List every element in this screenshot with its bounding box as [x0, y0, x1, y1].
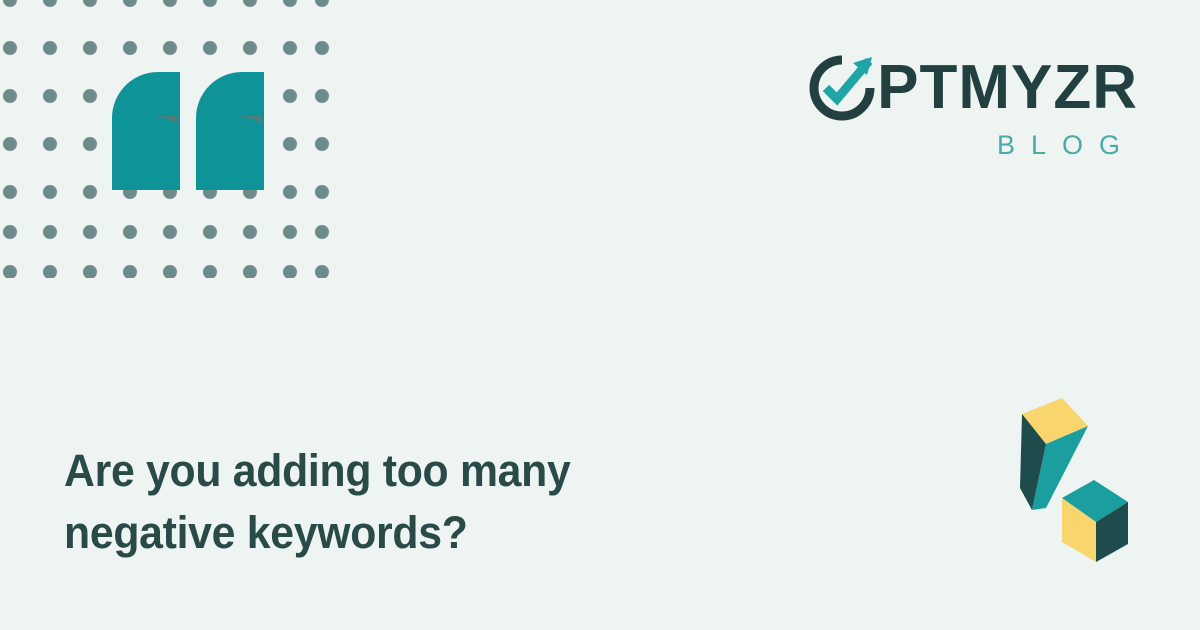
quotation-mark-icon [112, 72, 264, 190]
brand-wordmark: PTMYZR [877, 57, 1138, 119]
page-title: Are you adding too many negative keyword… [64, 440, 710, 564]
social-share-card: PTMYZR BLOG Are you adding too many nega… [0, 0, 1200, 630]
brand-lockup: PTMYZR BLOG [809, 52, 1138, 159]
brand-logo-row: PTMYZR [809, 52, 1138, 124]
brand-subtitle-blog: BLOG [981, 132, 1136, 159]
optmyzr-check-arrow-icon [809, 55, 875, 121]
isometric-shapes-decoration [1000, 392, 1145, 567]
